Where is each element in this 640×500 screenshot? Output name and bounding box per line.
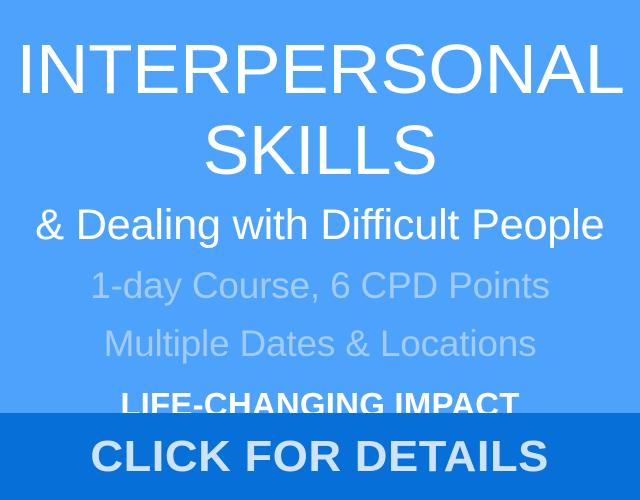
course-detail-duration-cpd: 1-day Course, 6 CPD Points: [90, 267, 550, 304]
headline-line-1: INTERPERSONAL: [16, 34, 624, 104]
advertisement-banner[interactable]: INTERPERSONAL SKILLS & Dealing with Diff…: [0, 0, 640, 500]
click-for-details-button[interactable]: CLICK FOR DETAILS: [0, 413, 640, 500]
headline-line-2: SKILLS: [203, 115, 437, 185]
banner-message-block: INTERPERSONAL SKILLS & Dealing with Diff…: [0, 0, 640, 413]
cta-button-label: CLICK FOR DETAILS: [91, 435, 550, 479]
course-detail-dates-locations: Multiple Dates & Locations: [104, 325, 537, 362]
banner-subheadline: & Dealing with Difficult People: [35, 204, 604, 247]
